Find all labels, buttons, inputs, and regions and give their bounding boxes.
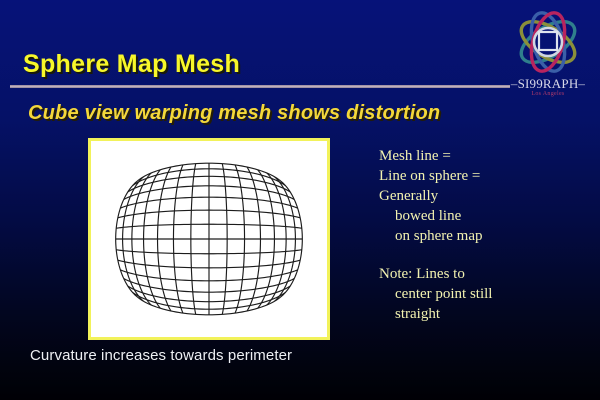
note-line: Generally — [379, 186, 589, 206]
slide-canvas: –SI99RAPH– Los Angeles Sphere Map Mesh C… — [0, 0, 600, 400]
title-divider — [10, 85, 510, 88]
siggraph-rings-icon — [500, 6, 596, 78]
slide-subtitle: Cube view warping mesh shows distortion — [28, 102, 440, 125]
wordmark-dash-right: – — [578, 76, 585, 91]
note-line: Note: Lines to — [379, 264, 589, 284]
page-title: Sphere Map Mesh — [23, 50, 240, 79]
note-line: Line on sphere = — [379, 166, 589, 186]
note-line: Mesh line = — [379, 146, 589, 166]
note-line: straight — [379, 304, 589, 324]
mesh-diagram — [91, 141, 327, 337]
siggraph-location: Los Angeles — [500, 91, 596, 97]
notes-block: Mesh line = Line on sphere = Generally b… — [379, 146, 589, 324]
siggraph-wordmark: –SI99RAPH– — [500, 76, 596, 92]
note-line: on sphere map — [379, 226, 589, 246]
wordmark-dash-left: – — [511, 76, 518, 91]
wordmark-text: SI99RAPH — [518, 76, 579, 91]
notes-spacer — [379, 246, 589, 264]
figure-caption: Curvature increases towards perimeter — [30, 347, 292, 364]
note-line: center point still — [379, 284, 589, 304]
siggraph-logo: –SI99RAPH– Los Angeles — [500, 6, 596, 104]
note-line: bowed line — [379, 206, 589, 226]
sphere-map-mesh-figure — [88, 138, 330, 340]
